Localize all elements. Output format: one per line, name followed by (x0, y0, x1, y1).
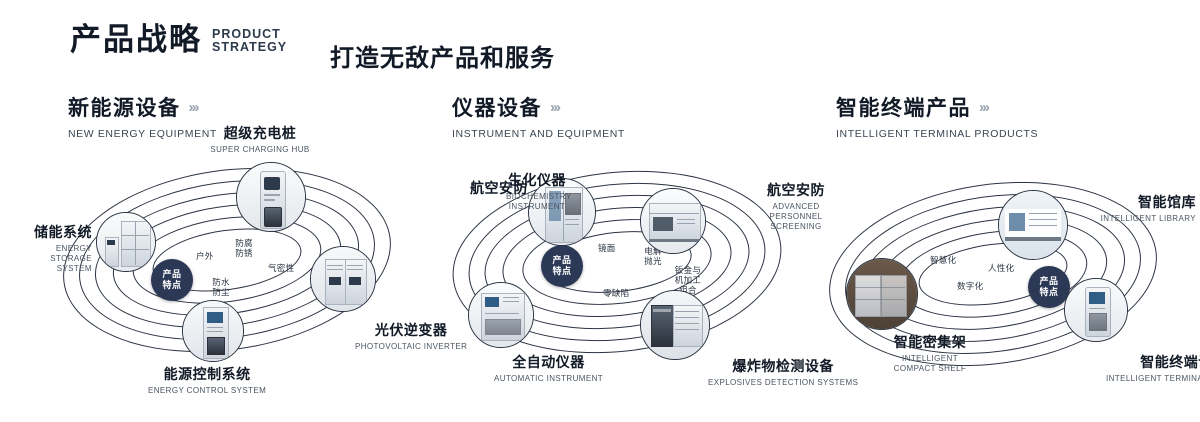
label-cn: 超级充电桩 (210, 123, 309, 143)
label-photovoltaic-inverter: 光伏逆变器 PHOTOVOLTAIC INVERTER (355, 320, 467, 351)
page-title-en-line2: STRATEGY (212, 41, 287, 54)
label-en: ENERGY STORAGE SYSTEM (14, 244, 92, 274)
label-cn: 智能终端设备 (1106, 352, 1200, 372)
terminal-kiosk-illustration (1065, 279, 1127, 341)
label-cn: 光伏逆变器 (355, 320, 467, 340)
label-cn: 全自动仪器 (494, 352, 603, 372)
center-chip-instrument: 产品 特点 (541, 245, 583, 287)
node-super-charging-hub (236, 162, 306, 232)
page-title: 产品战略 PRODUCT STRATEGY (70, 24, 287, 55)
chevron-right-icon: ››› (979, 99, 988, 116)
page-title-en: PRODUCT STRATEGY (212, 28, 287, 54)
infographic-page: 产品战略 PRODUCT STRATEGY 打造无敌产品和服务 新能源设备 ››… (0, 0, 1200, 422)
label-en: ENERGY CONTROL SYSTEM (148, 386, 266, 395)
center-chip-line1: 产品 (1039, 276, 1058, 287)
section-title-cn: 仪器设备 ››› (452, 92, 625, 122)
node-automatic-instrument (468, 282, 534, 348)
control-cabinet-illustration (183, 301, 243, 361)
label-en: INTELLIGENT LIBRARY (1101, 214, 1196, 223)
label-cn: 储能系统 (14, 222, 92, 242)
node-explosives-detection-systems (640, 290, 710, 360)
center-chip-line2: 特点 (1039, 287, 1058, 298)
tag-airtightness: 气密性 (268, 263, 294, 273)
inverter-illustration (311, 247, 375, 311)
label-energy-control-system: 能源控制系统 ENERGY CONTROL SYSTEM (148, 364, 266, 395)
label-cn: 航空安防 (758, 180, 834, 200)
node-energy-storage-system (96, 212, 156, 272)
tag-outdoor: 户外 (196, 251, 214, 261)
tag-mirror-finish: 镜面 (598, 243, 616, 253)
node-intelligent-compact-shelf (846, 258, 918, 330)
section-title-text: 新能源设备 (68, 92, 181, 122)
section-title-new-energy: 新能源设备 ››› NEW ENERGY EQUIPMENT (68, 92, 217, 140)
center-chip-line1: 产品 (552, 255, 571, 266)
label-en: INTELLIGENT TERMINAL EQUIPMENT (1106, 374, 1200, 383)
storage-cabinet-illustration (97, 213, 155, 271)
tag-anti-corrosion: 防腐防锈 (231, 238, 257, 258)
label-intelligent-terminal-equipment: 智能终端设备 INTELLIGENT TERMINAL EQUIPMENT (1106, 352, 1200, 383)
tag-digital: 数字化 (957, 281, 983, 291)
label-cn: 智能馆库 (1101, 192, 1196, 212)
tag-waterproof-dustproof: 防水防尘 (208, 277, 234, 297)
page-title-cn: 产品战略 (70, 24, 202, 55)
label-en: EXPLOSIVES DETECTION SYSTEMS (708, 378, 858, 387)
label-cn: 爆炸物检测设备 (708, 356, 858, 376)
label-super-charging-hub: 超级充电桩 SUPER CHARGING HUB (210, 123, 309, 154)
label-cn: 航空安防 (470, 178, 528, 198)
compact-shelf-illustration (847, 259, 917, 329)
page-subtitle: 打造无敌产品和服务 (330, 38, 555, 73)
label-advanced-personnel-screening: 航空安防 ADVANCED PERSONNEL SCREENING (758, 180, 834, 234)
node-advanced-personnel-screening (640, 188, 706, 254)
label-en: INTELLIGENT COMPACT SHELF (880, 354, 980, 374)
node-energy-control-system (182, 300, 244, 362)
library-room-illustration (999, 191, 1067, 259)
automatic-analyzer-illustration (469, 283, 533, 347)
tag-smart: 智慧化 (930, 255, 956, 265)
node-intelligent-terminal-equipment (1064, 278, 1128, 342)
chevron-right-icon: ››› (550, 99, 559, 116)
detection-cabinet-illustration (641, 291, 709, 359)
section-title-cn: 智能终端产品 ››› (836, 92, 1038, 122)
section-title-cn: 新能源设备 ››› (68, 92, 217, 122)
center-chip-new-energy: 产品 特点 (151, 259, 193, 301)
label-cn: 智能密集架 (880, 332, 980, 352)
label-explosives-detection-systems: 爆炸物检测设备 EXPLOSIVES DETECTION SYSTEMS (708, 356, 858, 387)
label-en: AUTOMATIC INSTRUMENT (494, 374, 603, 383)
screening-machine-illustration (641, 189, 705, 253)
section-title-en: INTELLIGENT TERMINAL PRODUCTS (836, 128, 1038, 140)
section-title-instrument: 仪器设备 ››› INSTRUMENT AND EQUIPMENT (452, 92, 625, 140)
label-cn: 能源控制系统 (148, 364, 266, 384)
label-automatic-instrument: 全自动仪器 AUTOMATIC INSTRUMENT (494, 352, 603, 383)
label-intelligent-compact-shelf: 智能密集架 INTELLIGENT COMPACT SHELF (880, 332, 980, 376)
center-chip-line2: 特点 (162, 280, 181, 291)
section-title-text: 仪器设备 (452, 92, 542, 122)
tag-humanized: 人性化 (988, 263, 1014, 273)
center-chip-line1: 产品 (162, 269, 181, 280)
section-title-intelligent-terminal: 智能终端产品 ››› INTELLIGENT TERMINAL PRODUCTS (836, 92, 1038, 140)
center-chip-line2: 特点 (552, 266, 571, 277)
label-aviation-security: 航空安防 (470, 178, 528, 198)
section-title-text: 智能终端产品 (836, 92, 971, 122)
section-title-en: INSTRUMENT AND EQUIPMENT (452, 128, 625, 140)
label-en: ADVANCED PERSONNEL SCREENING (758, 202, 834, 232)
chevron-right-icon: ››› (189, 99, 198, 116)
node-photovoltaic-inverter (310, 246, 376, 312)
label-en: PHOTOVOLTAIC INVERTER (355, 342, 467, 351)
charging-pile-illustration (237, 163, 305, 231)
tag-zero-defect: 零缺陷 (603, 288, 629, 298)
label-intelligent-library: 智能馆库 INTELLIGENT LIBRARY (1101, 192, 1196, 223)
node-intelligent-library (998, 190, 1068, 260)
label-energy-storage-system: 储能系统 ENERGY STORAGE SYSTEM (14, 222, 92, 276)
label-en: SUPER CHARGING HUB (210, 145, 309, 154)
center-chip-intelligent-terminal: 产品 特点 (1028, 266, 1070, 308)
section-title-en: NEW ENERGY EQUIPMENT (68, 128, 217, 140)
